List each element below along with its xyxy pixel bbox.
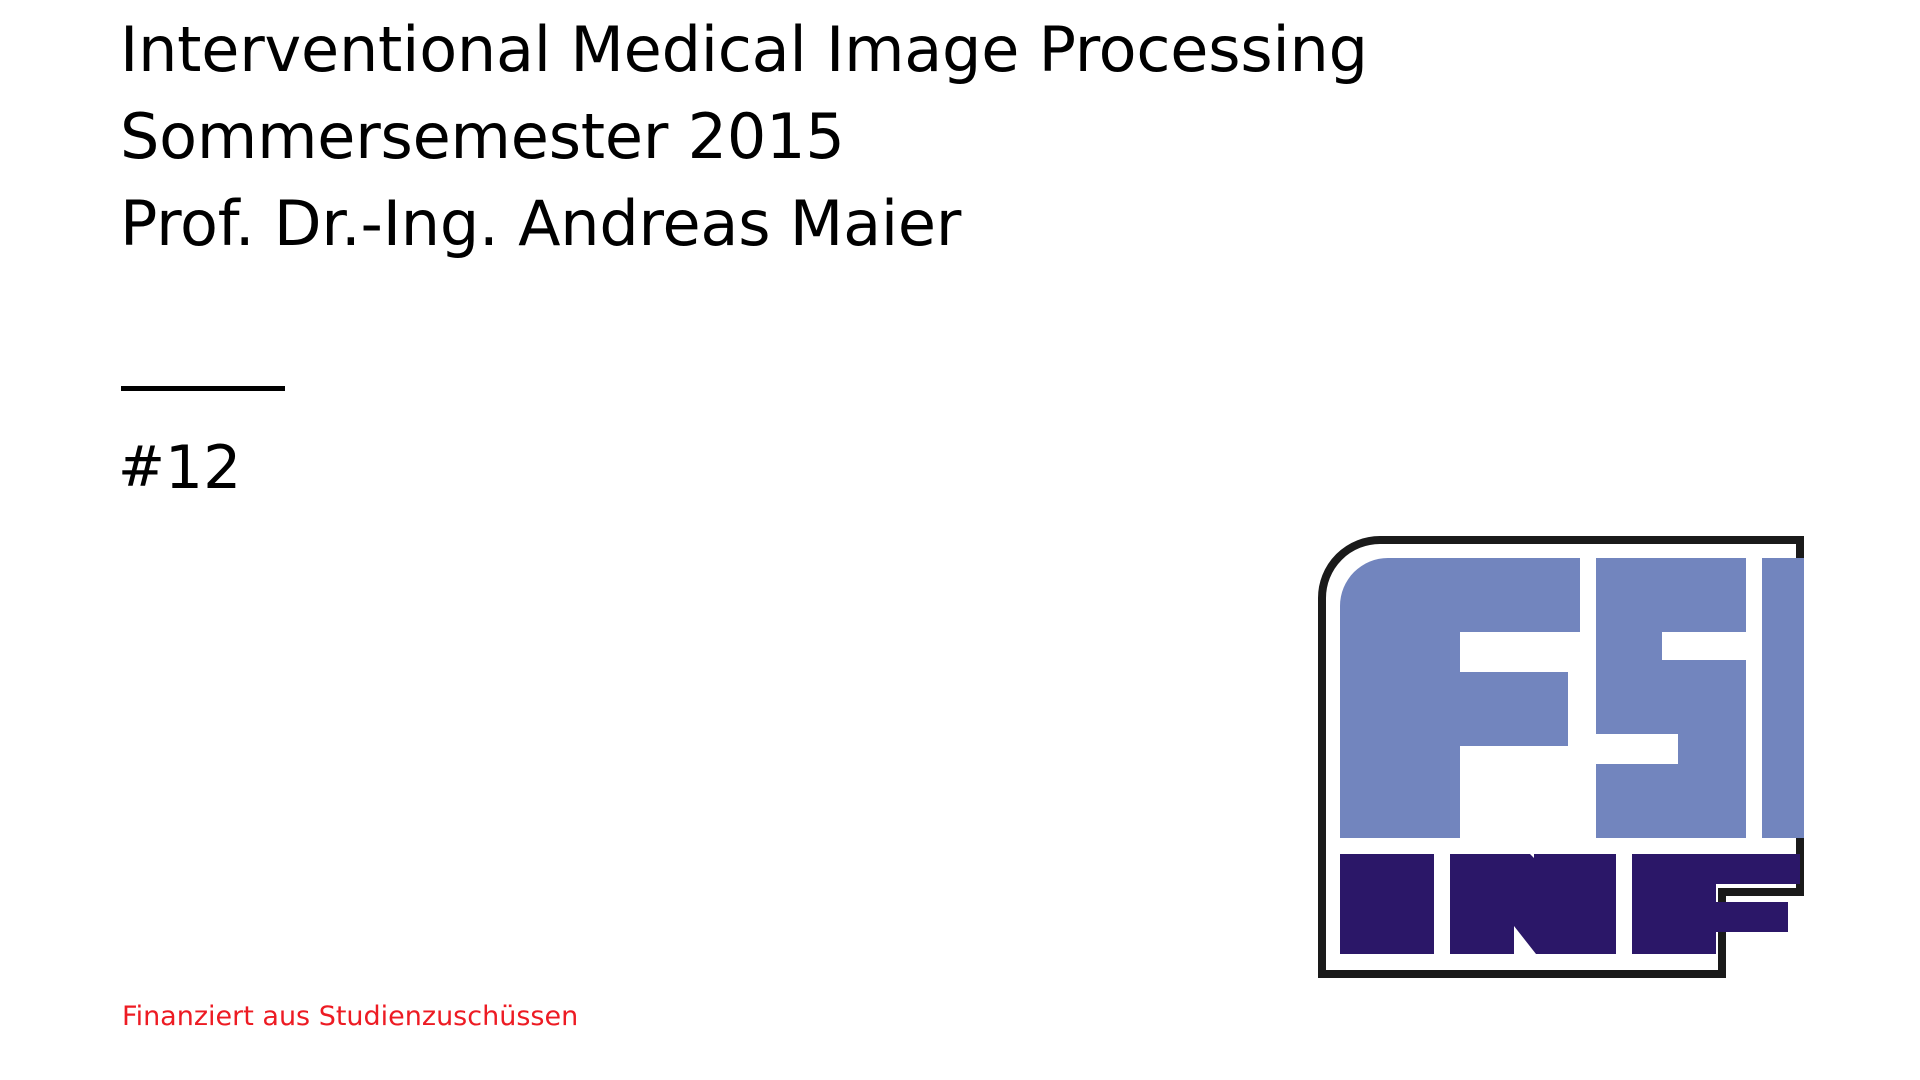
semester-subtitle: Sommersemester 2015 <box>120 93 1300 180</box>
title-slide: Interventional Medical Image Processing … <box>0 0 1920 1080</box>
funding-note: Finanziert aus Studienzuschüssen <box>122 1000 578 1034</box>
course-title: Interventional Medical Image Processing <box>120 6 1300 93</box>
logo-letter-n <box>1450 854 1616 954</box>
lecture-number-value: 12 <box>165 433 241 503</box>
logo-inf-letters <box>1340 854 1800 954</box>
fsi-inf-logo <box>1318 536 1804 978</box>
fsi-inf-logo-svg <box>1318 536 1804 978</box>
lecture-number: #12 <box>118 432 241 506</box>
horizontal-rule <box>121 386 285 391</box>
lecturer-name: Prof. Dr.-Ing. Andreas Maier <box>120 180 1300 267</box>
logo-letter-i-lower <box>1340 854 1434 954</box>
logo-letter-s <box>1596 558 1746 838</box>
title-block: Interventional Medical Image Processing … <box>120 6 1300 267</box>
hash-symbol: # <box>118 435 165 500</box>
logo-letter-i <box>1762 558 1804 838</box>
logo-letter-f-lower <box>1632 854 1800 954</box>
